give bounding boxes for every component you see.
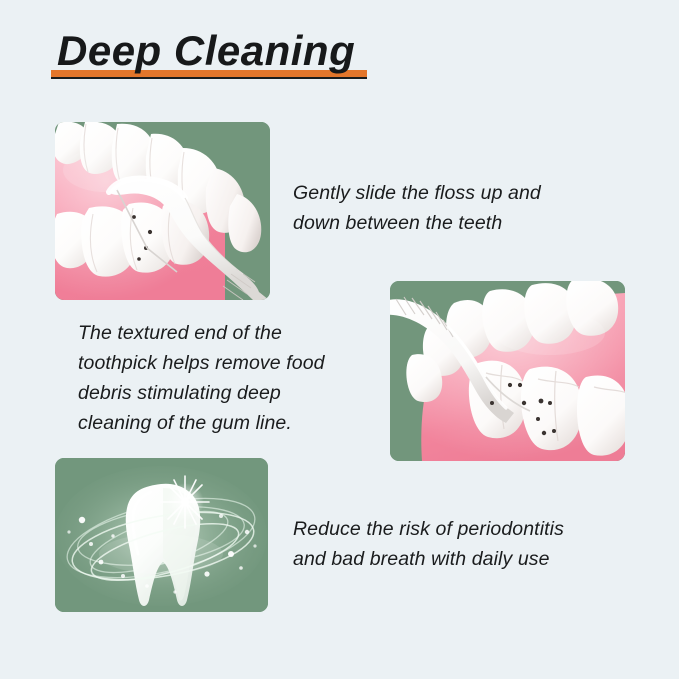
caption-textured-toothpick: The textured end of the toothpick helps … xyxy=(78,318,388,438)
caption-sparkling-tooth: Reduce the risk of periodontitis and bad… xyxy=(293,514,641,574)
caption-line: The textured end of the xyxy=(78,318,388,348)
caption-floss-slide: Gently slide the floss up and down betwe… xyxy=(293,178,623,238)
title-underline xyxy=(51,77,367,79)
caption-line: down between the teeth xyxy=(293,208,623,238)
floss-pick-between-teeth-illustration xyxy=(55,122,270,300)
caption-line: cleaning of the gum line. xyxy=(78,408,388,438)
caption-line: debris stimulating deep xyxy=(78,378,388,408)
caption-line: toothpick helps remove food xyxy=(78,348,388,378)
sparkling-clean-tooth-illustration xyxy=(55,458,268,612)
textured-toothpick-gum-line-illustration xyxy=(390,281,625,461)
image-panel-sparkling-tooth xyxy=(55,458,268,612)
caption-line: Gently slide the floss up and xyxy=(293,178,623,208)
page-title: Deep Cleaning xyxy=(55,28,385,74)
page-title-block: Deep Cleaning xyxy=(55,28,385,90)
image-panel-textured-toothpick xyxy=(390,281,625,461)
infographic-page: Deep Cleaning xyxy=(0,0,679,679)
image-panel-floss-slide xyxy=(55,122,270,300)
caption-line: and bad breath with daily use xyxy=(293,544,641,574)
caption-line: Reduce the risk of periodontitis xyxy=(293,514,641,544)
